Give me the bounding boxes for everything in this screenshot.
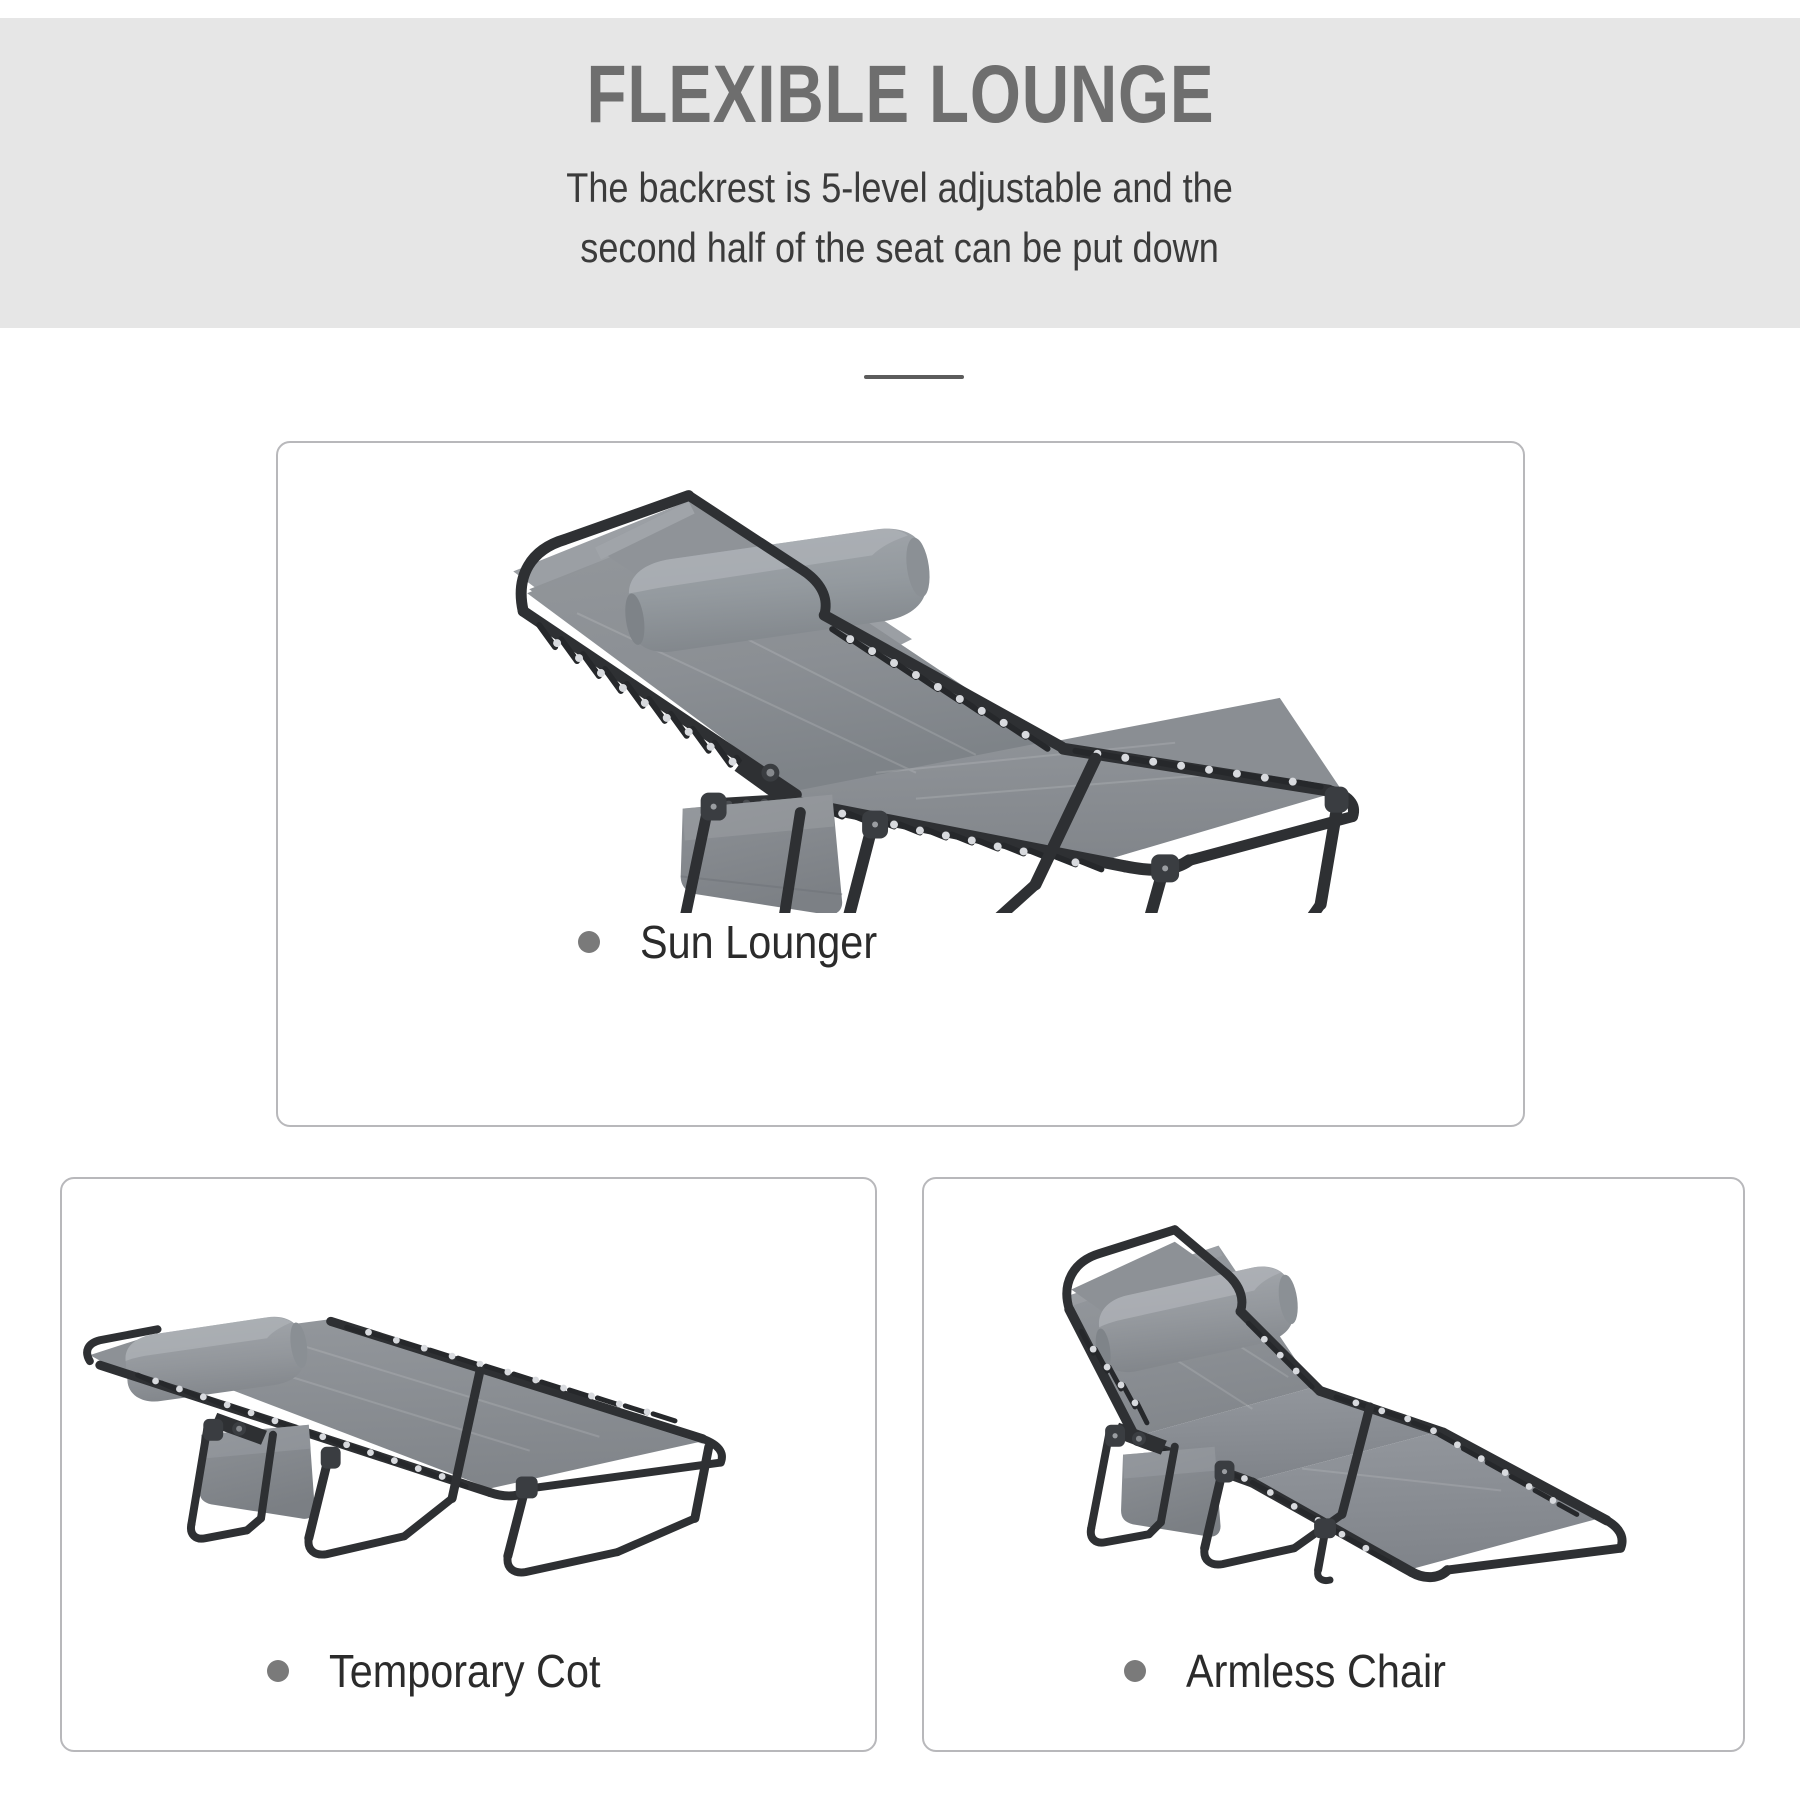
armless-chair-image [924,1179,1743,1589]
armless-chair-caption: Armless Chair [924,1644,1743,1698]
product-card-temporary-cot[interactable]: Temporary Cot [60,1177,877,1752]
temporary-cot-caption: Temporary Cot [62,1644,875,1698]
temporary-cot-label: Temporary Cot [329,1644,600,1698]
page-subtitle-line-1: The backrest is 5-level adjustable and t… [567,158,1234,218]
bullet-icon [267,1660,289,1682]
section-divider [864,375,964,379]
product-card-armless-chair[interactable]: Armless Chair [922,1177,1745,1752]
page-title: FLEXIBLE LOUNGE [586,54,1214,136]
header-band: FLEXIBLE LOUNGE The backrest is 5-level … [0,18,1800,328]
product-card-sun-lounger[interactable]: Sun Lounger [276,441,1525,1127]
sun-lounger-label: Sun Lounger [640,915,877,969]
armless-chair-label: Armless Chair [1186,1644,1446,1698]
sun-lounger-image [278,443,1523,913]
temporary-cot-image [62,1179,875,1589]
page-subtitle: The backrest is 5-level adjustable and t… [567,158,1234,277]
bullet-icon [578,931,600,953]
sun-lounger-caption: Sun Lounger [278,915,1523,969]
bullet-icon [1124,1660,1146,1682]
page-subtitle-line-2: second half of the seat can be put down [567,218,1234,278]
